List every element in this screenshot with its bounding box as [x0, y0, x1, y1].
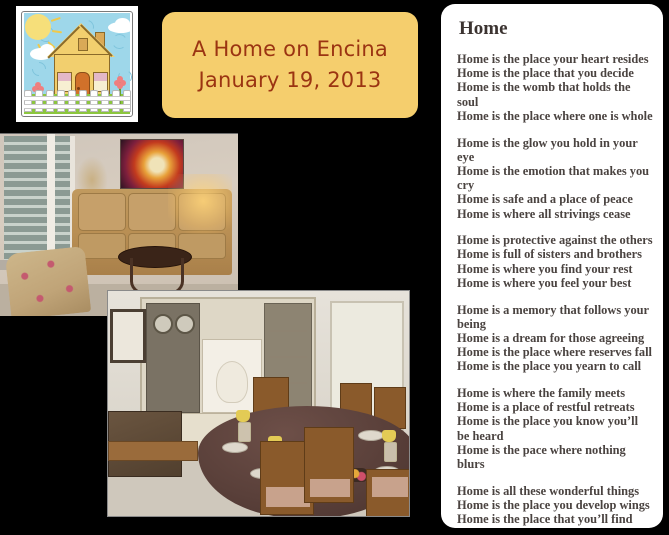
- clipart-frame: [20, 10, 134, 118]
- poem-line: Home is the place you yearn to call: [457, 359, 653, 373]
- poem-line: Home is where the family meets: [457, 386, 653, 400]
- poem-panel: Home Home is the place your heart reside…: [441, 4, 663, 528]
- shelving-left-panel: [146, 303, 200, 413]
- living-room-window: [4, 136, 75, 264]
- dining-chair: [304, 427, 354, 503]
- poem-stanza: Home is where the family meets Home is a…: [457, 386, 653, 471]
- living-room-window-frame: [47, 134, 55, 264]
- dining-chair-seat: [371, 476, 409, 498]
- title-line-2: January 19, 2013: [198, 65, 381, 96]
- poem-line: Home is the place where reserves fall: [457, 345, 653, 359]
- title-card: A Home on Encina January 19, 2013: [162, 12, 418, 118]
- living-room-lamp-glow: [168, 174, 232, 234]
- reel-to-reel-icon: [153, 314, 173, 334]
- poem-stanza: Home is protective against the others Ho…: [457, 233, 653, 290]
- dining-room-photo: [107, 290, 410, 517]
- shelf-line: [269, 330, 307, 332]
- poem-line: Home is the glow you hold in your eye: [457, 136, 653, 164]
- dining-room-wall-frame: [110, 309, 146, 363]
- poem-title: Home: [459, 18, 653, 40]
- poem-line: Home is the emotion that makes you cry: [457, 164, 653, 192]
- dining-room-shelving-unit: [140, 297, 316, 417]
- place-setting-napkin: [382, 430, 396, 442]
- place-setting-glass: [238, 422, 251, 442]
- poem-line: Home is the place that you’ll find one d…: [457, 512, 653, 528]
- living-room-photo: [0, 133, 238, 316]
- poem-line: Home is the place you develop wings: [457, 498, 653, 512]
- poem-line: Home is the place your heart resides: [457, 52, 653, 66]
- poem-line: Home is safe and a place of peace: [457, 192, 653, 206]
- dining-chair-seat: [309, 478, 351, 498]
- place-setting-napkin: [236, 410, 250, 422]
- dining-chair: [366, 469, 410, 517]
- reel-to-reel-icon: [175, 314, 195, 334]
- clipart-sketch-border: [21, 11, 133, 117]
- poem-line: Home is full of sisters and brothers: [457, 247, 653, 261]
- living-room-armchair: [5, 246, 91, 316]
- place-setting-glass: [384, 442, 397, 462]
- dining-room-bench: [108, 441, 198, 461]
- poem-line: Home is the womb that holds the soul: [457, 80, 653, 108]
- poem-stanza: Home is all these wonderful things Home …: [457, 484, 653, 528]
- poem-stanza: Home is the place your heart resides Hom…: [457, 52, 653, 123]
- poem-line: Home is the place that you decide: [457, 66, 653, 80]
- poem-line: Home is the place where one is whole: [457, 109, 653, 123]
- shelf-line: [269, 356, 307, 358]
- poem-line: Home is all these wonderful things: [457, 484, 653, 498]
- poem-line: Home is where you feel your best: [457, 276, 653, 290]
- sofa-cushion: [78, 193, 126, 231]
- poem-line: Home is a place of restful retreats: [457, 400, 653, 414]
- place-setting-plate: [358, 430, 384, 441]
- poem-line: Home is the pace where nothing blurs: [457, 443, 653, 471]
- slide-canvas: A Home on Encina January 19, 2013: [0, 0, 669, 535]
- poem-line: Home is where all strivings cease: [457, 207, 653, 221]
- house-clipart: [16, 6, 138, 122]
- poem-line: Home is protective against the others: [457, 233, 653, 247]
- place-setting-plate: [222, 442, 248, 453]
- poem-line: Home is where you find your rest: [457, 262, 653, 276]
- poem-line: Home is the place you know you’ll be hea…: [457, 414, 653, 442]
- dining-room-statue: [216, 361, 248, 403]
- poem-line: Home is a dream for those agreeing: [457, 331, 653, 345]
- poem-stanza: Home is the glow you hold in your eye Ho…: [457, 136, 653, 221]
- title-line-1: A Home on Encina: [192, 34, 388, 65]
- poem-body: Home is the place your heart resides Hom…: [457, 52, 653, 528]
- poem-line: Home is a memory that follows your being: [457, 303, 653, 331]
- poem-stanza: Home is a memory that follows your being…: [457, 303, 653, 374]
